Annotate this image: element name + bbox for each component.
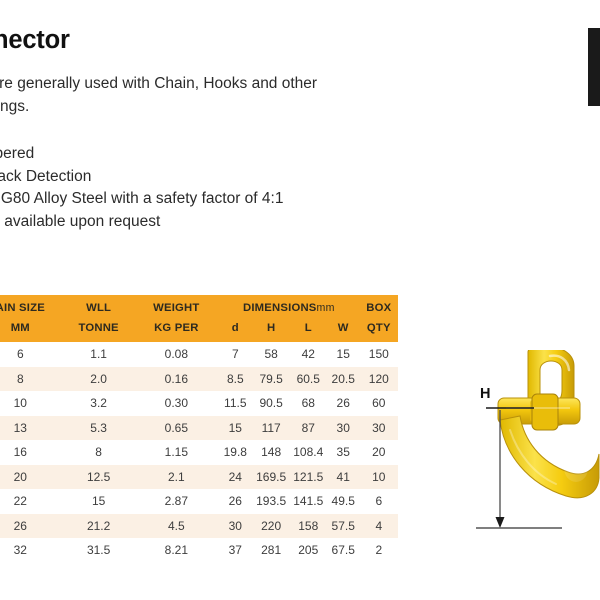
cell-w: 49.5	[327, 489, 360, 514]
table-body: 61.10.08758421515082.00.168.579.560.520.…	[0, 342, 398, 563]
cell-weight: 0.30	[135, 391, 218, 416]
connector-product-image	[470, 350, 600, 550]
cell-d: 19.8	[218, 440, 253, 465]
cell-l: 42	[290, 342, 327, 367]
list-item: AS3776	[0, 234, 464, 257]
list-item: ates are available upon request	[0, 211, 464, 234]
cell-w: 41	[327, 465, 360, 490]
cell-l: 205	[290, 538, 327, 563]
cell-l: 68	[290, 391, 327, 416]
cell-chain-size: 16	[0, 440, 63, 465]
column-header-weight: WEIGHT	[135, 295, 218, 318]
table-row: 61.10.087584215150	[0, 342, 398, 367]
table-row: 3231.58.213728120567.52	[0, 538, 398, 563]
column-header-chain-size: AIN SIZE	[0, 295, 63, 318]
cell-w: 20.5	[327, 367, 360, 392]
column-unit-wll: TONNE	[63, 318, 135, 342]
cell-d: 26	[218, 489, 253, 514]
cell-box-qty: 150	[360, 342, 398, 367]
cell-d: 37	[218, 538, 253, 563]
cell-weight: 1.15	[135, 440, 218, 465]
cell-chain-size: 8	[0, 367, 63, 392]
cell-chain-size: 6	[0, 342, 63, 367]
cell-weight: 0.65	[135, 416, 218, 441]
cell-chain-size: 10	[0, 391, 63, 416]
cell-h: 90.5	[253, 391, 290, 416]
cell-wll: 3.2	[63, 391, 135, 416]
cell-weight: 8.21	[135, 538, 218, 563]
dimension-label-h: H	[480, 386, 490, 402]
dimensions-unit: mm	[317, 302, 335, 314]
edge-accent-bar	[588, 28, 600, 106]
column-header-wll: WLL	[63, 295, 135, 318]
cell-h: 148	[253, 440, 290, 465]
cell-d: 30	[218, 514, 253, 539]
cell-weight: 2.1	[135, 465, 218, 490]
cell-weight: 0.16	[135, 367, 218, 392]
table-header-row-units: MM TONNE KG PER d H L W QTY	[0, 318, 398, 342]
cell-l: 141.5	[290, 489, 327, 514]
cell-w: 57.5	[327, 514, 360, 539]
table-row: 2621.24.53022015857.54	[0, 514, 398, 539]
cell-chain-size: 13	[0, 416, 63, 441]
cell-wll: 31.5	[63, 538, 135, 563]
cell-box-qty: 120	[360, 367, 398, 392]
column-unit-chain-size: MM	[0, 318, 63, 342]
cell-d: 7	[218, 342, 253, 367]
list-item: nd Tempered	[0, 143, 464, 166]
document-content: Connector ectors are generally used with…	[0, 0, 464, 257]
cell-weight: 4.5	[135, 514, 218, 539]
feature-list: nd Tempered aflux Crack Detection ed fro…	[0, 143, 464, 258]
cell-chain-size: 26	[0, 514, 63, 539]
cell-l: 121.5	[290, 465, 327, 490]
column-unit-d: d	[218, 318, 253, 342]
cell-w: 15	[327, 342, 360, 367]
column-unit-w: W	[327, 318, 360, 342]
cell-l: 108.4	[290, 440, 327, 465]
cell-box-qty: 10	[360, 465, 398, 490]
cell-l: 87	[290, 416, 327, 441]
dimensions-text: DIMENSIONS	[243, 302, 317, 314]
cell-h: 220	[253, 514, 290, 539]
cell-w: 67.5	[327, 538, 360, 563]
table-row: 135.30.6515117873030	[0, 416, 398, 441]
page-title: Connector	[0, 26, 464, 55]
cell-l: 158	[290, 514, 327, 539]
cell-wll: 5.3	[63, 416, 135, 441]
cell-chain-size: 20	[0, 465, 63, 490]
cell-w: 35	[327, 440, 360, 465]
cell-box-qty: 6	[360, 489, 398, 514]
cell-h: 193.5	[253, 489, 290, 514]
cell-box-qty: 2	[360, 538, 398, 563]
cell-weight: 0.08	[135, 342, 218, 367]
cell-wll: 2.0	[63, 367, 135, 392]
cell-wll: 21.2	[63, 514, 135, 539]
cell-box-qty: 4	[360, 514, 398, 539]
list-item: aflux Crack Detection	[0, 166, 464, 189]
list-item: ed from G80 Alloy Steel with a safety fa…	[0, 188, 464, 211]
cell-box-qty: 60	[360, 391, 398, 416]
cell-h: 117	[253, 416, 290, 441]
intro-line: ectors are generally used with Chain, Ho…	[0, 73, 464, 96]
cell-w: 26	[327, 391, 360, 416]
cell-box-qty: 30	[360, 416, 398, 441]
cell-d: 24	[218, 465, 253, 490]
cell-d: 8.5	[218, 367, 253, 392]
cell-wll: 15	[63, 489, 135, 514]
table-row: 103.20.3011.590.5682660	[0, 391, 398, 416]
cell-w: 30	[327, 416, 360, 441]
intro-paragraph: ectors are generally used with Chain, Ho…	[0, 73, 464, 119]
cell-h: 281	[253, 538, 290, 563]
cell-chain-size: 32	[0, 538, 63, 563]
table-header-row-primary: AIN SIZE WLL WEIGHT DIMENSIONSmm BOX	[0, 295, 398, 318]
column-unit-l: L	[290, 318, 327, 342]
table-row: 22152.8726193.5141.549.56	[0, 489, 398, 514]
intro-line: chain slings.	[0, 96, 464, 119]
cell-l: 60.5	[290, 367, 327, 392]
cell-d: 15	[218, 416, 253, 441]
cell-d: 11.5	[218, 391, 253, 416]
cell-weight: 2.87	[135, 489, 218, 514]
cell-chain-size: 22	[0, 489, 63, 514]
cell-h: 58	[253, 342, 290, 367]
column-header-dimensions: DIMENSIONSmm	[218, 295, 360, 318]
cell-h: 79.5	[253, 367, 290, 392]
column-unit-box-qty: QTY	[360, 318, 398, 342]
specification-table: AIN SIZE WLL WEIGHT DIMENSIONSmm BOX MM …	[0, 295, 398, 563]
table-row: 1681.1519.8148108.43520	[0, 440, 398, 465]
cell-wll: 12.5	[63, 465, 135, 490]
table-row: 82.00.168.579.560.520.5120	[0, 367, 398, 392]
product-figure: H	[470, 350, 600, 550]
column-unit-weight: KG PER	[135, 318, 218, 342]
cell-h: 169.5	[253, 465, 290, 490]
column-header-box: BOX	[360, 295, 398, 318]
column-unit-h: H	[253, 318, 290, 342]
table-row: 2012.52.124169.5121.54110	[0, 465, 398, 490]
cell-box-qty: 20	[360, 440, 398, 465]
cell-wll: 1.1	[63, 342, 135, 367]
cell-wll: 8	[63, 440, 135, 465]
